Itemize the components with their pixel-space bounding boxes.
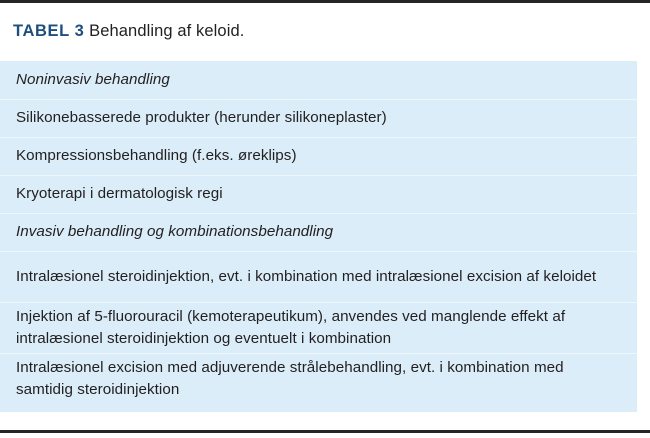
table-row: Intralæsionel excision med adjuverende s…: [0, 353, 637, 404]
table-row: Silikonebasserede produkter (herunder si…: [0, 99, 637, 137]
table-row: Kompressionsbehandling (f.eks. øreklips): [0, 137, 637, 175]
table-top-rule: [0, 0, 650, 3]
table-row-text: Intralæsionel steroidinjektion, evt. i k…: [16, 264, 596, 290]
table-row: Kryoterapi i dermatologisk regi: [0, 175, 637, 213]
table-figure: TABEL 3 Behandling af keloid. Noninvasiv…: [0, 0, 650, 438]
table-row: Injektion af 5-fluorouracil (kemoterapeu…: [0, 302, 637, 353]
table-caption: TABEL 3 Behandling af keloid.: [13, 20, 637, 42]
table-body: Noninvasiv behandling Silikonebasserede …: [0, 61, 637, 412]
table-row-text: Noninvasiv behandling: [16, 69, 170, 91]
table-row-text: Kompressionsbehandling (f.eks. øreklips): [16, 145, 297, 167]
table-row: Intralæsionel steroidinjektion, evt. i k…: [0, 251, 637, 302]
table-row: Noninvasiv behandling: [0, 61, 637, 99]
table-row-text: Invasiv behandling og kombinationsbehand…: [16, 221, 333, 243]
table-row-text: Intralæsionel excision med adjuverende s…: [16, 355, 621, 403]
table-row-text: Silikonebasserede produkter (herunder si…: [16, 107, 387, 129]
table-caption-text: Behandling af keloid.: [89, 22, 244, 40]
table-row: Invasiv behandling og kombinationsbehand…: [0, 213, 637, 251]
table-row-text: Injektion af 5-fluorouracil (kemoterapeu…: [16, 304, 621, 352]
table-caption-label: TABEL 3: [13, 22, 84, 40]
table-row-text: Kryoterapi i dermatologisk regi: [16, 183, 223, 205]
table-bottom-rule: [0, 430, 650, 433]
